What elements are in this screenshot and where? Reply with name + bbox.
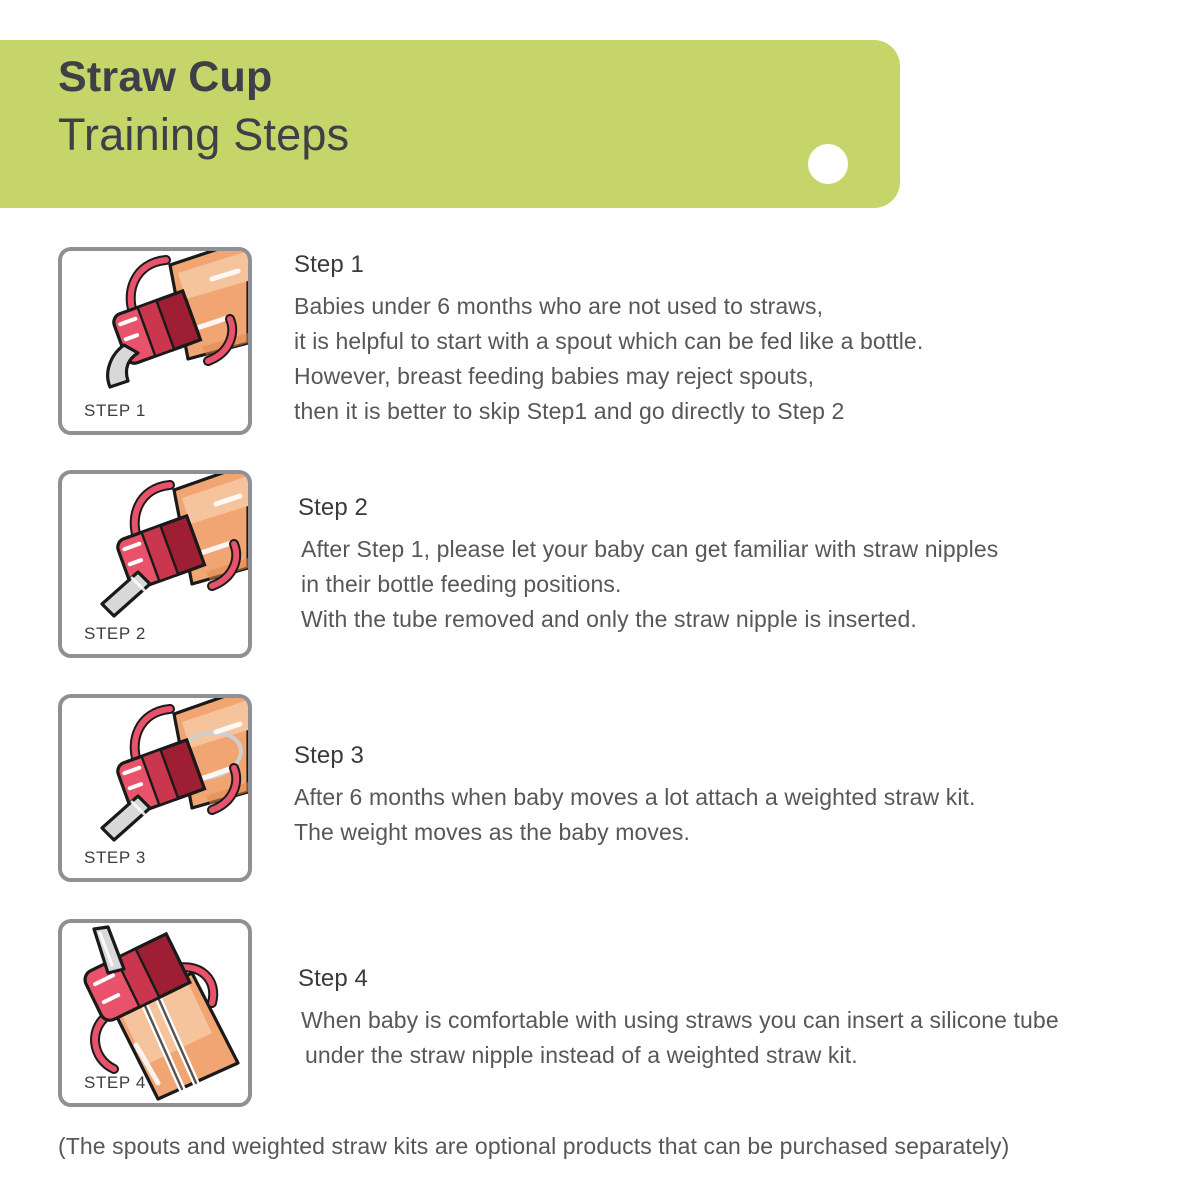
step-1-line: However, breast feeding babies may rejec… <box>294 359 923 394</box>
step-1-figure-caption: STEP 1 <box>84 401 146 421</box>
step-2-line: After Step 1, please let your baby can g… <box>298 532 998 567</box>
step-2-illustration-box: STEP 2 <box>58 470 252 658</box>
step-1-line: Babies under 6 months who are not used t… <box>294 289 923 324</box>
step-1-text-block: Step 1 Babies under 6 months who are not… <box>294 253 923 429</box>
step-4-figure-caption: STEP 4 <box>84 1073 146 1093</box>
step-4-illustration-box: STEP 4 <box>58 919 252 1107</box>
punch-hole-icon <box>808 144 848 184</box>
step-3-figure-caption: STEP 3 <box>84 848 146 868</box>
page-title: Straw Cup <box>58 56 272 99</box>
step-3-text-block: Step 3 After 6 months when baby moves a … <box>294 744 976 850</box>
step-1-line: it is helpful to start with a spout whic… <box>294 324 923 359</box>
header-tag-banner: Straw Cup Training Steps <box>0 40 900 208</box>
page-subtitle: Training Steps <box>58 112 349 157</box>
step-3-line: The weight moves as the baby moves. <box>294 815 976 850</box>
step-4-line: under the straw nipple instead of a weig… <box>298 1038 1059 1073</box>
step-2-line: in their bottle feeding positions. <box>298 567 998 602</box>
step-3-illustration-box: STEP 3 <box>58 694 252 882</box>
footnote-text: (The spouts and weighted straw kits are … <box>58 1133 1009 1160</box>
step-1-heading: Step 1 <box>294 253 923 277</box>
step-4-line: When baby is comfortable with using stra… <box>298 1003 1059 1038</box>
step-1-line: then it is better to skip Step1 and go d… <box>294 394 923 429</box>
step-2-heading: Step 2 <box>298 496 998 520</box>
step-4-text-block: Step 4 When baby is comfortable with usi… <box>298 967 1059 1073</box>
step-1-illustration-box: STEP 1 <box>58 247 252 435</box>
step-2-figure-caption: STEP 2 <box>84 624 146 644</box>
step-4-heading: Step 4 <box>298 967 1059 991</box>
step-2-text-block: Step 2 After Step 1, please let your bab… <box>298 496 998 637</box>
step-3-line: After 6 months when baby moves a lot att… <box>294 780 976 815</box>
step-3-heading: Step 3 <box>294 744 976 768</box>
step-2-line: With the tube removed and only the straw… <box>298 602 998 637</box>
